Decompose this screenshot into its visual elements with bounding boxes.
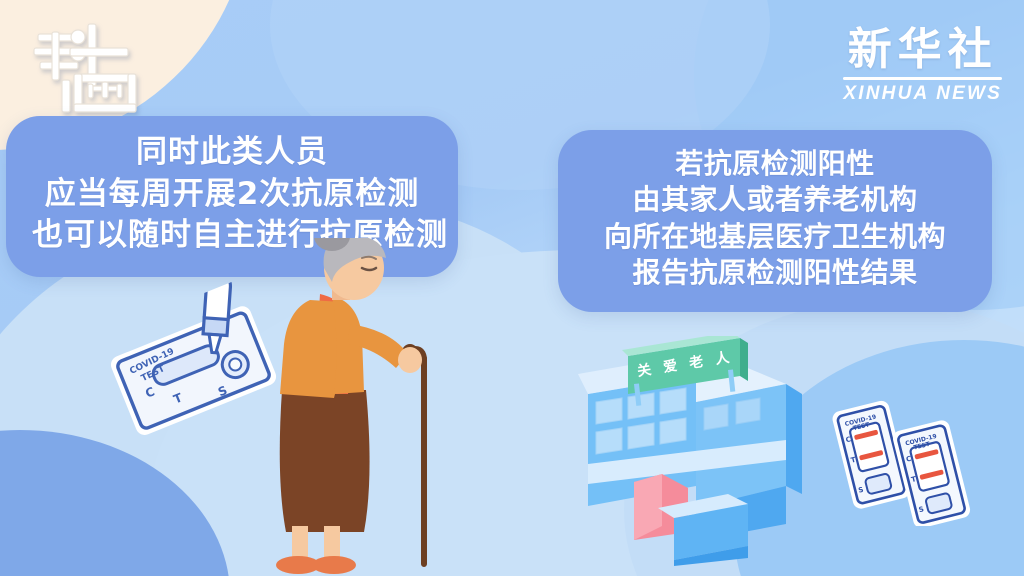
svg-text:老: 老 [688,353,704,372]
svg-text:关: 关 [636,361,652,380]
bubble-left-line-1: 同时此类人员 [32,132,432,174]
speech-bubble-right: 若抗原检测阳性 由其家人或者养老机构 向所在地基层医疗卫生机构 报告抗原检测阳性… [558,130,992,312]
elderly-woman-illustration [258,238,468,576]
bubble-right-line-4: 报告抗原检测阳性结果 [584,255,966,291]
kehua-logo [26,18,156,118]
bubble-left-line-2: 应当每周开展2次抗原检测 [32,174,432,216]
background-blob-bottom-left [0,430,230,576]
infographic-canvas: 新华社 XINHUA NEWS 同时此类人员 应当每周开展2次抗原检测 也可以随… [0,0,1024,576]
svg-text:爱: 爱 [662,358,678,376]
bubble-right-line-2: 由其家人或者养老机构 [584,182,966,218]
xinhua-logo-divider [843,77,1002,80]
antigen-test-kits-right-icon: COVID-19 TEST C T S COVID-19 TEST C T S [828,398,978,526]
xinhua-logo-english: XINHUA NEWS [843,84,1002,103]
xinhua-logo-chinese: 新华社 [843,28,1002,72]
xinhua-news-logo: 新华社 XINHUA NEWS [843,28,1002,103]
bubble-right-line-1: 若抗原检测阳性 [584,146,966,182]
elderly-care-facility-illustration: 关 爱 老 人 [578,336,808,566]
bubble-right-line-3: 向所在地基层医疗卫生机构 [584,219,966,255]
